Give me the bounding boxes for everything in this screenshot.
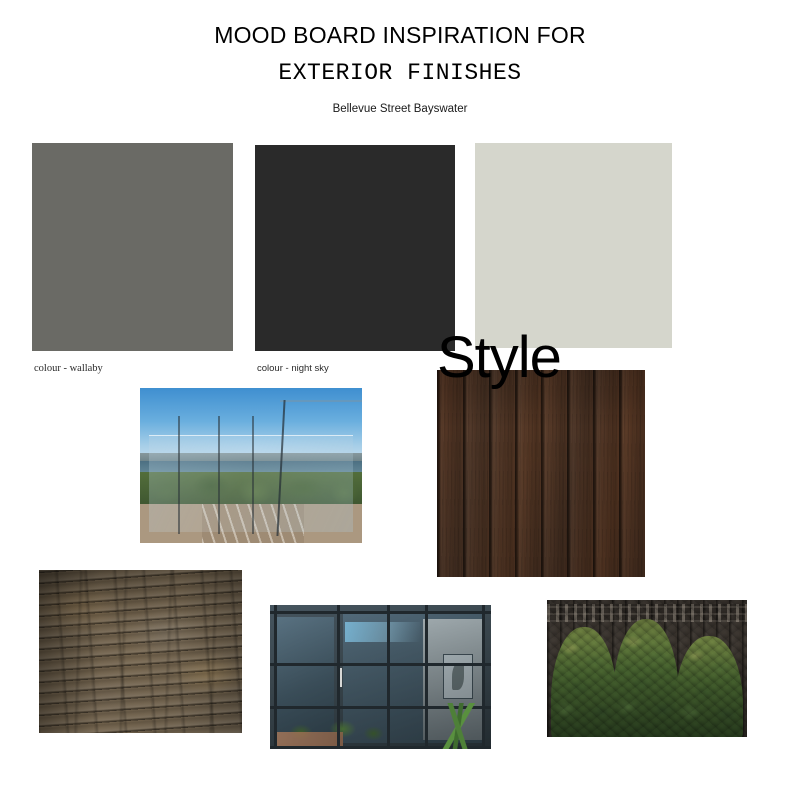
glass-top-edge: [280, 400, 362, 402]
colour-swatch-sage-greige: [475, 143, 672, 348]
timber-cladding-scene: [437, 370, 645, 577]
glazed-entry-scene: [270, 605, 491, 749]
timber-shading: [437, 370, 645, 577]
project-address: Bellevue Street Bayswater: [0, 103, 800, 115]
door-frame-mullion: [425, 605, 428, 749]
colour-swatch-wallaby: [32, 143, 233, 351]
door-frame-mullion: [387, 605, 390, 749]
stone-shading: [39, 570, 242, 733]
image-timber-cladding: [437, 370, 645, 577]
style-overlay-text: Style: [437, 329, 561, 387]
door-frame-rail: [270, 663, 491, 666]
door-frame-rail: [270, 611, 491, 614]
image-stone-wall: [39, 570, 242, 733]
hedge-shading: [547, 600, 747, 737]
glass-joint: [218, 416, 220, 534]
screening-hedge-scene: [547, 600, 747, 737]
colour-swatch-wallaby-label: colour - wallaby: [34, 363, 103, 374]
glass-joint: [178, 416, 180, 534]
stone-wall-scene: [39, 570, 242, 733]
colour-swatch-night-sky-label: colour - night sky: [257, 363, 329, 374]
mood-board: MOOD BOARD INSPIRATION FOR EXTERIOR FINI…: [0, 0, 800, 800]
image-glazed-entry: [270, 605, 491, 749]
foreground-plant: [429, 703, 486, 749]
image-glass-balustrade: [140, 388, 362, 543]
image-screening-hedge: [547, 600, 747, 737]
colour-swatch-night-sky: [255, 145, 455, 351]
page-title: MOOD BOARD INSPIRATION FOR: [0, 22, 800, 49]
glass-reflection: [345, 622, 420, 642]
glass-joint: [252, 416, 254, 534]
entry-path: [277, 732, 343, 746]
glass-balustrade-scene: [140, 388, 362, 543]
door-handle: [340, 668, 342, 687]
door-frame-mullion: [274, 605, 277, 749]
page-subtitle: EXTERIOR FINISHES: [0, 60, 800, 86]
